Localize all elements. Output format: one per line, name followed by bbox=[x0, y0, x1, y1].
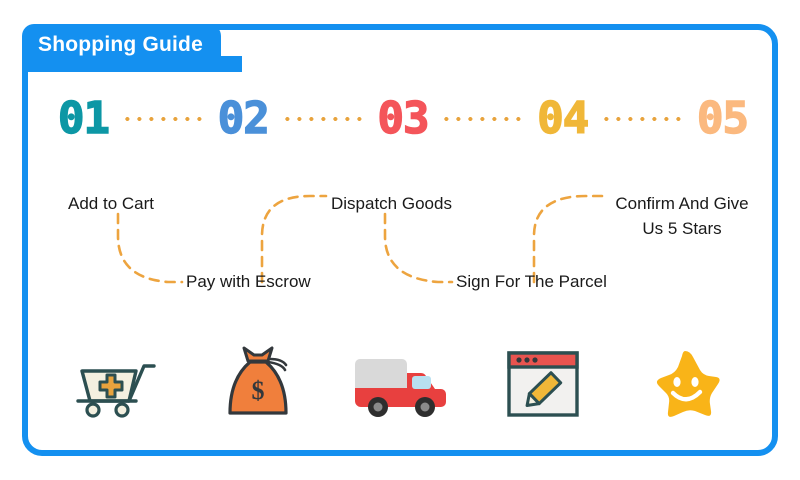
icon-cell-sign-for-the-parcel bbox=[472, 349, 614, 419]
step-label-sign-for-the-parcel: Sign For The Parcel bbox=[456, 270, 607, 295]
step-label-pay-with-escrow: Pay with Escrow bbox=[186, 270, 311, 295]
confirm-label-line-1: Confirm And Give bbox=[615, 194, 748, 213]
step-number-04: 04 bbox=[537, 97, 588, 141]
dotted-connector-1 bbox=[121, 117, 206, 121]
step-number-01: 01 bbox=[58, 97, 109, 141]
curve-cart-to-escrow bbox=[118, 214, 182, 282]
step-number-03: 03 bbox=[378, 97, 429, 141]
step-number-05: 05 bbox=[697, 97, 748, 141]
curve-dispatch-to-sign bbox=[385, 214, 452, 282]
step-labels-area: Add to Cart Pay with Escrow Dispatch Goo… bbox=[0, 170, 800, 320]
step-number-02: 02 bbox=[218, 97, 269, 141]
icon-cell-add-to-cart bbox=[46, 349, 188, 419]
delivery-truck-icon bbox=[351, 351, 451, 417]
smiling-star-icon bbox=[648, 348, 722, 420]
dotted-connector-4 bbox=[600, 117, 685, 121]
icon-cell-dispatch-goods bbox=[330, 351, 472, 417]
page-title: Shopping Guide bbox=[38, 33, 203, 57]
browser-pencil-icon bbox=[505, 349, 581, 419]
icon-cell-confirm-and-give-us-5-stars bbox=[614, 348, 756, 420]
panel-title-tab: Shopping Guide bbox=[22, 24, 221, 66]
dotted-connector-2 bbox=[281, 117, 366, 121]
step-icons-row: $ bbox=[46, 336, 756, 432]
step-label-dispatch-goods: Dispatch Goods bbox=[331, 192, 452, 217]
icon-cell-pay-with-escrow: $ bbox=[188, 345, 330, 423]
step-numbers-row: 01 02 03 04 05 bbox=[58, 88, 748, 150]
shopping-cart-plus-icon bbox=[74, 349, 160, 419]
money-bag-icon: $ bbox=[224, 345, 294, 423]
step-label-add-to-cart: Add to Cart bbox=[68, 192, 154, 217]
step-label-confirm-and-give-us-5-stars: Confirm And Give Us 5 Stars bbox=[608, 192, 756, 241]
confirm-label-line-2: Us 5 Stars bbox=[642, 219, 721, 238]
svg-text:$: $ bbox=[252, 376, 265, 405]
dotted-connector-3 bbox=[440, 117, 525, 121]
